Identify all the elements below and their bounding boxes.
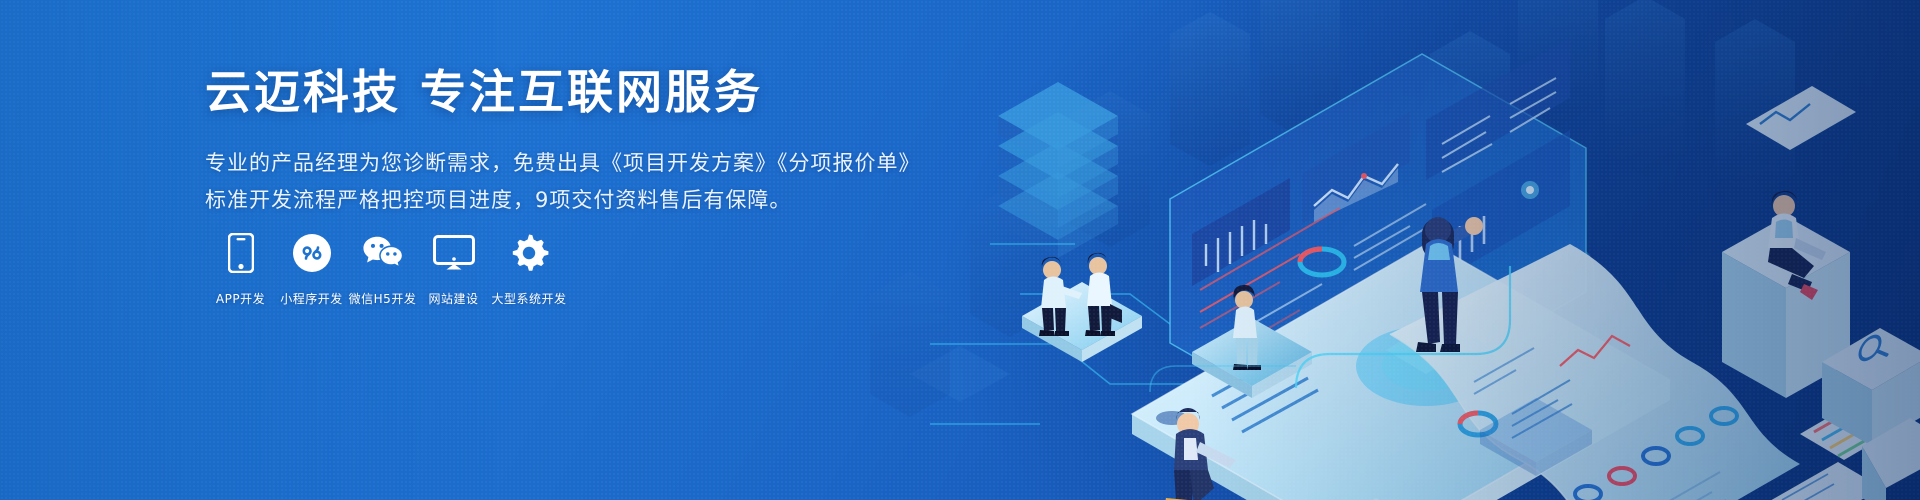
subtitle-line-2: 标准开发流程严格把控项目进度，9项交付资料售后有保障。: [205, 182, 905, 219]
hero-banner: 云迈科技 专注互联网服务 专业的产品经理为您诊断需求，免费出具《项目开发方案》《…: [0, 0, 1920, 500]
service-item-wechat-h5[interactable]: 微信H5开发: [347, 232, 418, 307]
service-item-large-system[interactable]: 大型系统开发: [489, 232, 569, 307]
wechat-icon: [362, 232, 404, 274]
hero-subtitle: 专业的产品经理为您诊断需求，免费出具《项目开发方案》《分项报价单》 标准开发流程…: [205, 145, 905, 219]
gear-icon: [508, 232, 550, 274]
mini-program-icon: [291, 232, 333, 274]
hero-copy: 云迈科技 专注互联网服务 专业的产品经理为您诊断需求，免费出具《项目开发方案》《…: [205, 66, 905, 218]
server-stack: [998, 82, 1118, 258]
service-label: 网站建设: [428, 290, 478, 307]
service-label: 小程序开发: [280, 290, 343, 307]
mobile-phone-icon: [220, 232, 262, 274]
isometric-illustration: [870, 0, 1920, 500]
page-title: 云迈科技 专注互联网服务: [205, 66, 905, 119]
service-label: APP开发: [216, 290, 265, 307]
service-item-website[interactable]: 网站建设: [418, 232, 489, 307]
service-label: 微信H5开发: [349, 290, 417, 307]
illustration-container: [870, 0, 1920, 500]
service-list: APP开发 小程序开发: [205, 232, 569, 307]
subtitle-line-1: 专业的产品经理为您诊断需求，免费出具《项目开发方案》《分项报价单》: [205, 145, 905, 182]
monitor-icon: [433, 232, 475, 274]
service-item-app[interactable]: APP开发: [205, 232, 276, 307]
service-label: 大型系统开发: [491, 290, 566, 307]
service-item-miniprogram[interactable]: 小程序开发: [276, 232, 347, 307]
